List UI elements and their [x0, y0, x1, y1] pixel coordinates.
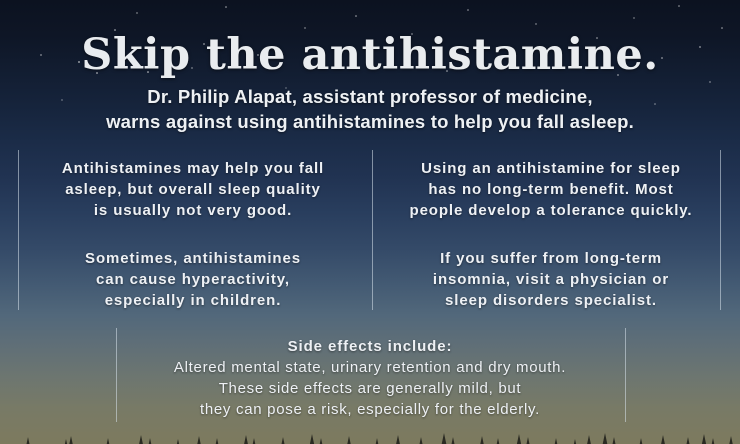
- page-title: Skip the antihistamine.: [0, 33, 740, 78]
- tree-shape: [661, 435, 665, 444]
- side-effects-line: These side effects are generally mild, b…: [130, 378, 610, 399]
- tree-shape: [517, 434, 521, 444]
- column-divider: [625, 328, 626, 422]
- tree-shape: [69, 436, 72, 444]
- subtitle: Dr. Philip Alapat, assistant professor o…: [0, 84, 740, 134]
- tree-shape: [253, 438, 256, 444]
- tree-shape: [320, 438, 323, 444]
- fact-block-sleep-quality: Antihistamines may help you fall asleep,…: [24, 158, 362, 221]
- tree-shape: [216, 438, 219, 444]
- tree-shape: [613, 437, 616, 444]
- tree-shape: [420, 437, 423, 444]
- fact-line: can cause hyperactivity,: [24, 269, 362, 290]
- fact-line: Using an antihistamine for sleep: [382, 158, 720, 179]
- side-effects-line: Altered mental state, urinary retention …: [130, 357, 610, 378]
- tree-shape: [712, 438, 715, 444]
- column-divider: [372, 150, 373, 310]
- subtitle-line: warns against using antihistamines to he…: [0, 109, 740, 134]
- star-dot: [355, 15, 357, 17]
- tree-shape: [376, 438, 379, 444]
- tree-shape: [574, 439, 576, 444]
- fact-line: Sometimes, antihistamines: [24, 248, 362, 269]
- tree-shape: [139, 435, 143, 444]
- fact-line: insomnia, visit a physician or: [382, 269, 720, 290]
- tree-shape: [640, 438, 643, 444]
- star-dot: [633, 17, 634, 18]
- star-dot: [225, 6, 227, 8]
- fact-line: If you suffer from long-term: [382, 248, 720, 269]
- fact-line: people develop a tolerance quickly.: [382, 200, 720, 221]
- tree-shape: [729, 436, 732, 444]
- tree-shape: [65, 439, 67, 444]
- star-dot: [304, 27, 305, 28]
- star-dot: [467, 9, 469, 11]
- star-dot: [535, 23, 536, 24]
- column-divider: [18, 150, 19, 310]
- tree-shape: [480, 436, 483, 444]
- star-dot: [136, 12, 137, 13]
- tree-shape: [177, 439, 179, 444]
- tree-shape: [396, 435, 400, 444]
- tree-shape: [497, 438, 500, 444]
- tree-shape: [555, 438, 558, 444]
- star-dot: [709, 81, 710, 82]
- fact-line: asleep, but overall sleep quality: [24, 179, 362, 200]
- tree-shape: [587, 435, 591, 444]
- side-effects-heading: Side effects include:: [130, 336, 610, 357]
- fact-line: Antihistamines may help you fall: [24, 158, 362, 179]
- infographic-canvas: Skip the antihistamine. Dr. Philip Alapa…: [0, 0, 740, 444]
- subtitle-line: Dr. Philip Alapat, assistant professor o…: [0, 84, 740, 109]
- tree-shape: [310, 434, 314, 444]
- tree-shape: [603, 433, 608, 444]
- star-dot: [721, 27, 723, 29]
- tree-shape: [452, 437, 455, 444]
- fact-line: has no long-term benefit. Most: [382, 179, 720, 200]
- tree-shape: [149, 438, 152, 444]
- fact-line: is usually not very good.: [24, 200, 362, 221]
- side-effects-block: Side effects include: Altered mental sta…: [130, 336, 610, 420]
- tree-shape: [687, 437, 690, 444]
- tree-shape: [347, 436, 350, 444]
- tree-shape: [442, 433, 447, 444]
- fact-block-insomnia: If you suffer from long-term insomnia, v…: [382, 248, 720, 311]
- column-divider: [116, 328, 117, 422]
- side-effects-line: they can pose a risk, especially for the…: [130, 399, 610, 420]
- column-divider: [720, 150, 721, 310]
- tree-shape: [282, 437, 285, 444]
- tree-shape: [197, 436, 200, 444]
- tree-shape: [702, 434, 706, 444]
- treeline-silhouette: [0, 422, 740, 444]
- fact-line: especially in children.: [24, 290, 362, 311]
- tree-shape: [527, 437, 530, 444]
- star-dot: [678, 5, 680, 7]
- tree-shape: [244, 435, 248, 444]
- fact-line: sleep disorders specialist.: [382, 290, 720, 311]
- tree-shape: [107, 438, 110, 444]
- fact-block-tolerance: Using an antihistamine for sleep has no …: [382, 158, 720, 221]
- tree-shape: [27, 437, 30, 444]
- fact-block-hyperactivity: Sometimes, antihistamines can cause hype…: [24, 248, 362, 311]
